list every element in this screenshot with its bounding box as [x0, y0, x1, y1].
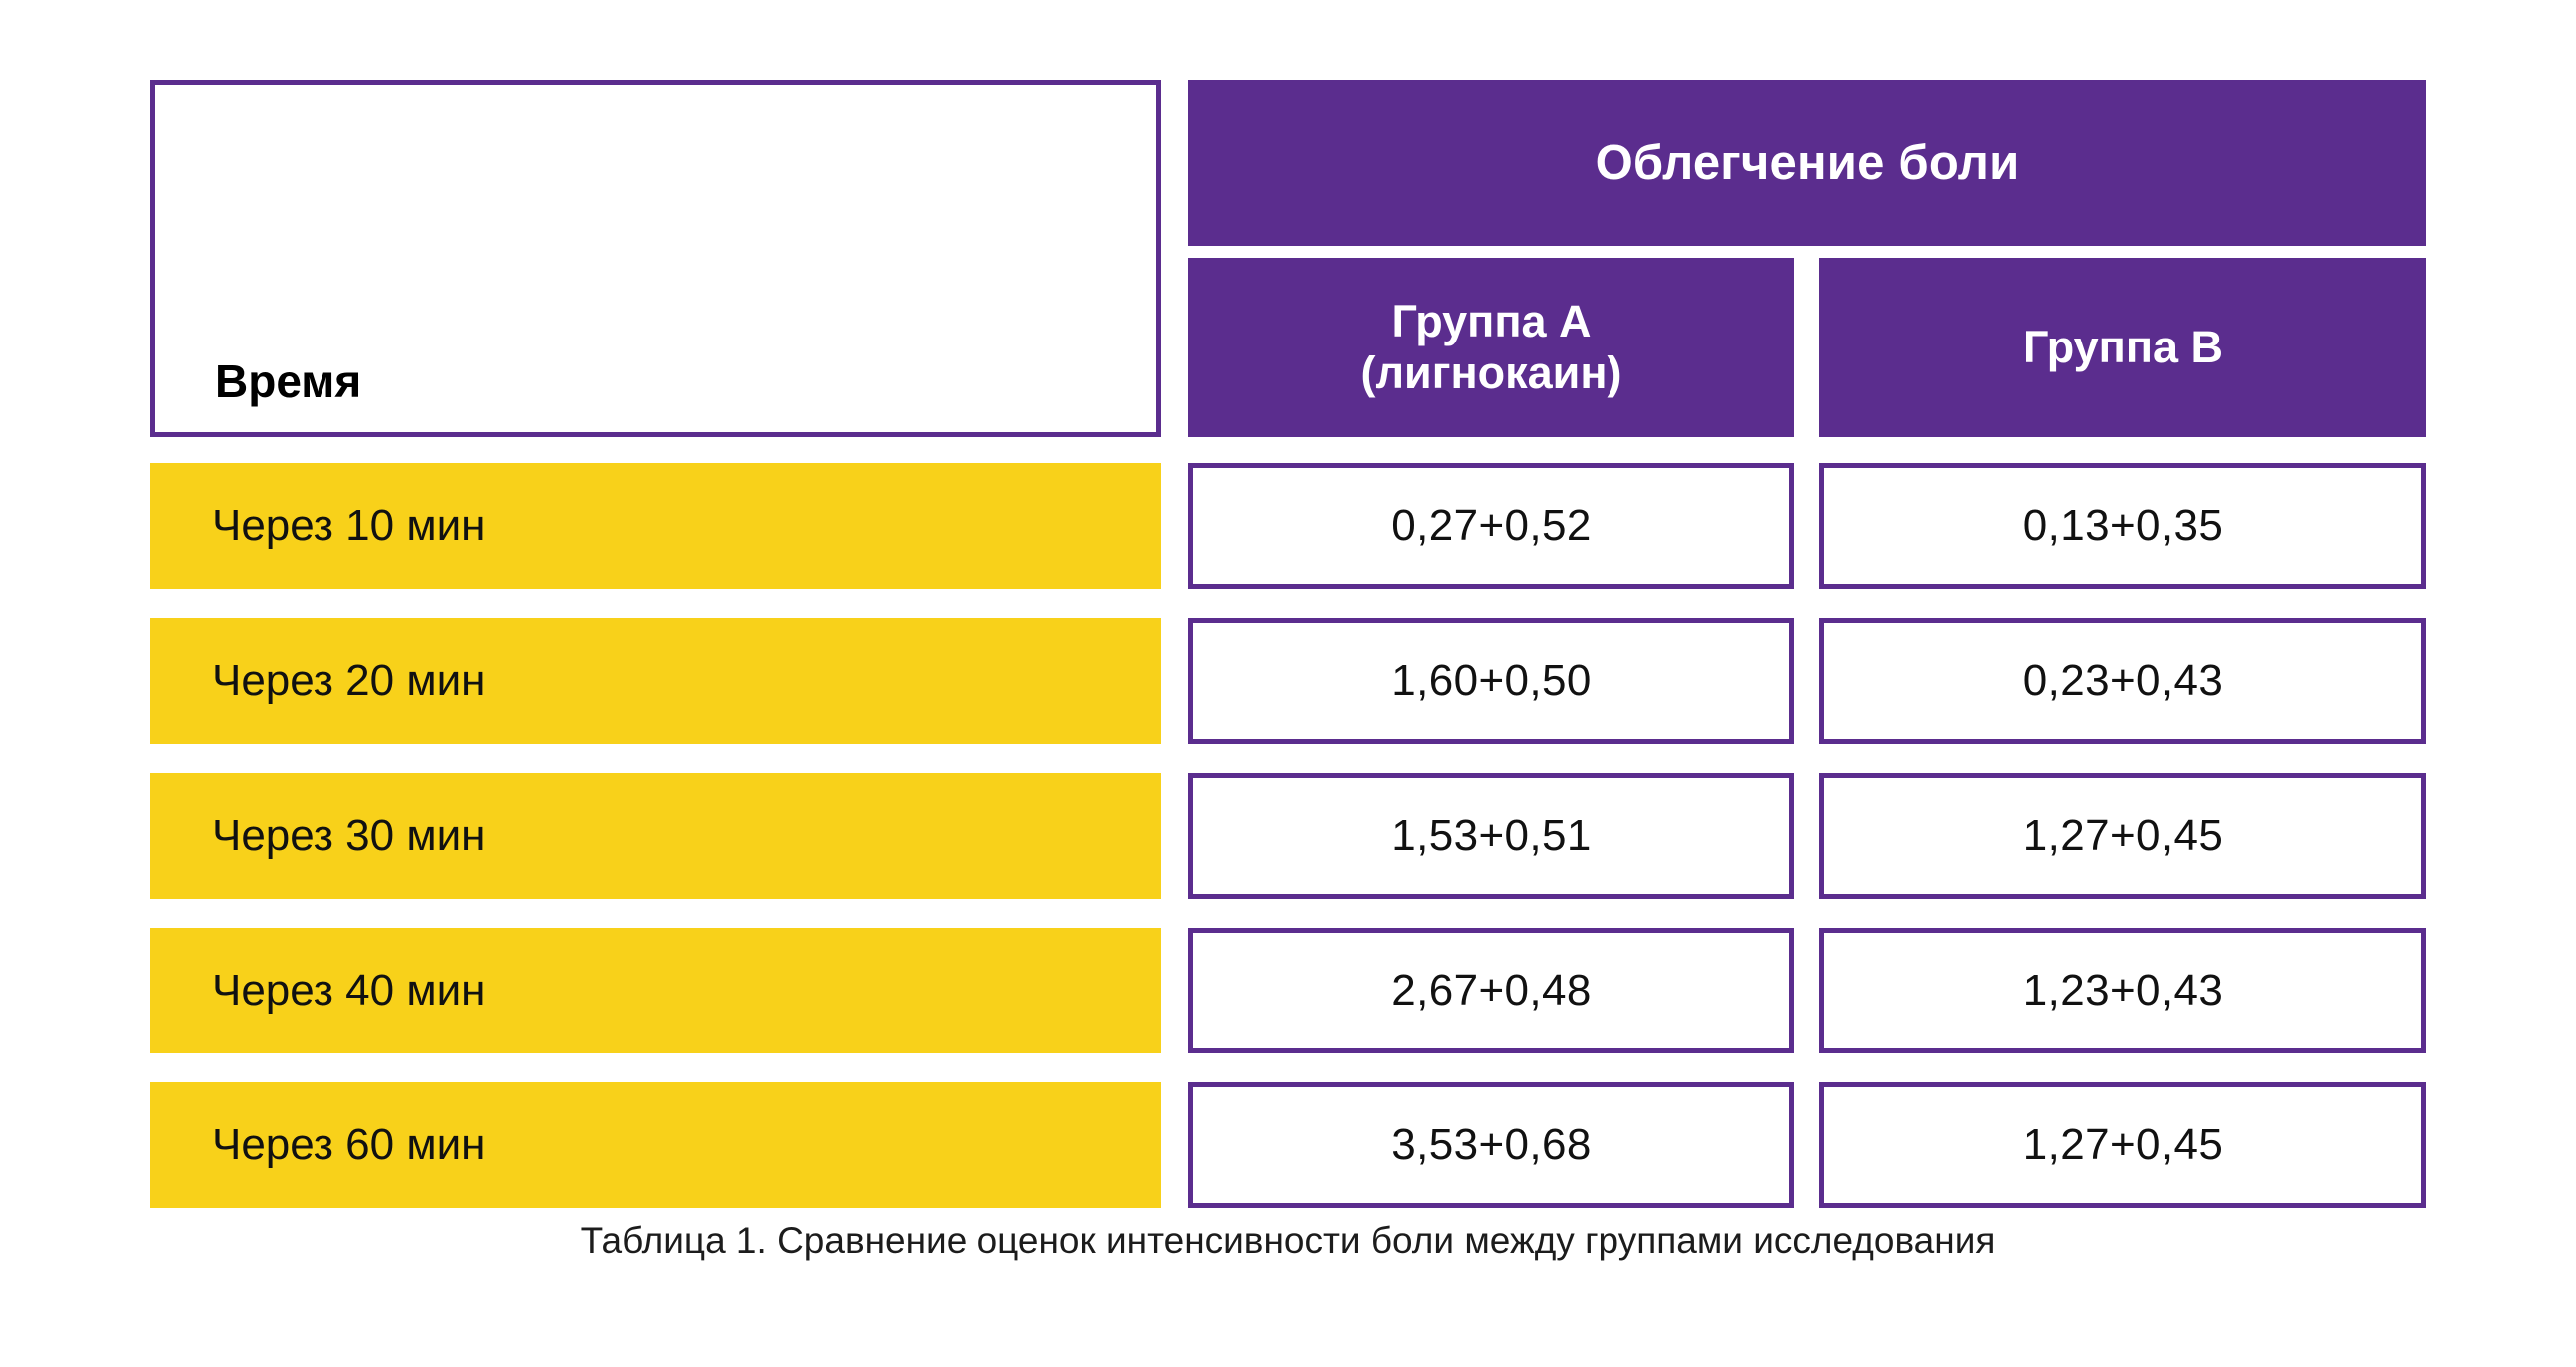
table-cell-group-a-0: 0,27+0,52	[1188, 463, 1794, 589]
table-row-label-2: Через 30 мин	[150, 773, 1161, 899]
column-header-group-b-line1: Группа B	[2023, 322, 2223, 373]
cell-value: 1,27+0,45	[2023, 811, 2224, 861]
cell-value: 0,23+0,43	[2023, 656, 2224, 706]
table-cell-group-a-1: 1,60+0,50	[1188, 618, 1794, 744]
cell-value: 1,23+0,43	[2023, 966, 2224, 1016]
cell-value: 0,13+0,35	[2023, 501, 2224, 551]
table-row-label-4: Через 60 мин	[150, 1082, 1161, 1208]
table-cell-group-a-2: 1,53+0,51	[1188, 773, 1794, 899]
cell-value: 0,27+0,52	[1391, 501, 1592, 551]
column-header-group-a-line2: (лигнокаин)	[1360, 347, 1621, 399]
table-column-header-group-a: Группа A (лигнокаин)	[1188, 258, 1794, 437]
cell-value: 1,53+0,51	[1391, 811, 1592, 861]
cell-value: 1,27+0,45	[2023, 1120, 2224, 1170]
column-header-group-a-line1: Группа A	[1391, 296, 1591, 347]
row-label-text: Через 20 мин	[212, 656, 485, 706]
cell-value: 3,53+0,68	[1391, 1120, 1592, 1170]
table-column-header-group-b: Группа B	[1819, 258, 2426, 437]
row-label-text: Через 40 мин	[212, 966, 485, 1016]
table-cell-group-b-1: 0,23+0,43	[1819, 618, 2426, 744]
table-cell-group-b-3: 1,23+0,43	[1819, 928, 2426, 1053]
table-row-label-1: Через 20 мин	[150, 618, 1161, 744]
table-caption: Таблица 1. Сравнение оценок интенсивност…	[0, 1220, 2576, 1262]
row-label-text: Через 60 мин	[212, 1120, 485, 1170]
cell-value: 1,60+0,50	[1391, 656, 1592, 706]
table-cell-group-b-0: 0,13+0,35	[1819, 463, 2426, 589]
table-group-header-pain-relief: Облегчение боли	[1188, 80, 2426, 246]
row-label-text: Через 30 мин	[212, 811, 485, 861]
pain-comparison-table-figure: Время Облегчение боли Группа A (лигнокаи…	[0, 0, 2576, 1367]
table-corner-cell-time: Время	[150, 80, 1161, 437]
table-cell-group-b-4: 1,27+0,45	[1819, 1082, 2426, 1208]
group-header-label: Облегчение боли	[1596, 135, 2020, 191]
table-row-label-0: Через 10 мин	[150, 463, 1161, 589]
table-row-label-3: Через 40 мин	[150, 928, 1161, 1053]
corner-cell-label: Время	[215, 354, 361, 408]
cell-value: 2,67+0,48	[1391, 966, 1592, 1016]
row-label-text: Через 10 мин	[212, 501, 485, 551]
table-cell-group-a-4: 3,53+0,68	[1188, 1082, 1794, 1208]
table-cell-group-b-2: 1,27+0,45	[1819, 773, 2426, 899]
table-cell-group-a-3: 2,67+0,48	[1188, 928, 1794, 1053]
